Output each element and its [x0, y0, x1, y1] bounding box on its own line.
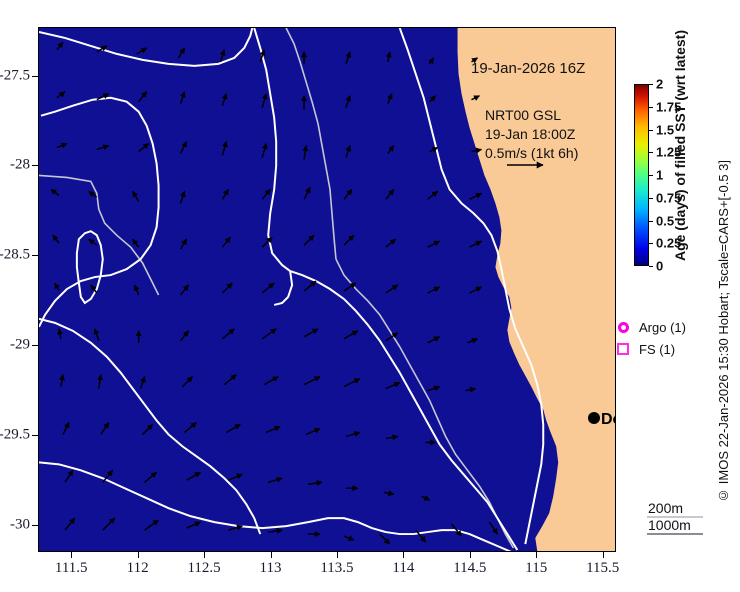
depth-key-1000m: 1000m	[648, 517, 691, 534]
dongara-city-label: Dongara	[601, 411, 616, 429]
vector-source-label: NRT00 GSL	[485, 106, 578, 125]
y-tick-mark	[32, 525, 38, 526]
x-tick-label-5: 114	[392, 560, 414, 577]
depth-label-200m: 200m	[648, 500, 683, 516]
vector-key-block: NRT00 GSL 19-Jan 18:00Z 0.5m/s (1kt 6h)	[485, 106, 578, 163]
colorbar-tick-mark	[649, 84, 653, 85]
vector-scale-arrow-icon	[505, 159, 551, 171]
x-tick-label-3: 113	[260, 560, 282, 577]
depth-line-1000m-icon	[647, 533, 703, 535]
y-tick-label-4: -29.5	[0, 427, 30, 444]
x-tick-mark	[536, 552, 537, 558]
fs-square-icon	[614, 343, 632, 355]
date-stamp-label: 19-Jan-2026 16Z	[471, 60, 585, 77]
credit-label: © IMOS 22-Jan-2026 15:30 Hobart; Tscale=…	[716, 160, 731, 503]
colorbar-title-text: Age (days) of filled SST (wrt latest)	[672, 30, 688, 261]
x-tick-mark	[470, 552, 471, 558]
x-tick-label-4: 113.5	[320, 560, 353, 577]
colorbar-tick-mark	[649, 198, 653, 199]
colorbar-tick-label-8: 0	[656, 259, 663, 274]
x-tick-mark	[204, 552, 205, 558]
y-tick-mark	[32, 255, 38, 256]
x-tick-label-0: 111.5	[55, 560, 88, 577]
x-tick-label-8: 115.5	[586, 560, 619, 577]
map-plot-area[interactable]: 19-Jan-2026 16Z NRT00 GSL 19-Jan 18:00Z …	[38, 27, 616, 552]
depth-label-1000m: 1000m	[648, 517, 691, 533]
legend-label-fs: FS (1)	[639, 342, 675, 357]
legend-item-fs[interactable]: FS (1)	[614, 338, 686, 360]
colorbar-gradient	[634, 84, 649, 266]
colorbar-tick-mark	[649, 175, 653, 176]
y-tick-mark	[32, 345, 38, 346]
colorbar-tick-mark	[649, 243, 653, 244]
x-tick-mark	[71, 552, 72, 558]
y-tick-label-0: -27.5	[0, 67, 30, 84]
colorbar-title: Age (days) of filled SST (wrt latest)	[672, 30, 696, 310]
y-tick-label-2: -28.5	[0, 247, 30, 264]
figure-canvas: 19-Jan-2026 16Z NRT00 GSL 19-Jan 18:00Z …	[0, 0, 740, 592]
vector-time-label: 19-Jan 18:00Z	[485, 125, 578, 144]
x-tick-label-2: 112.5	[187, 560, 220, 577]
dongara-city-dot-icon	[588, 412, 600, 424]
colorbar-tick-mark	[649, 221, 653, 222]
x-tick-label-6: 114.5	[453, 560, 486, 577]
colorbar-tick-label-4: 1	[656, 168, 663, 183]
depth-key-200m: 200m	[648, 500, 691, 517]
bathymetry-depth-key: 200m 1000m	[648, 500, 691, 534]
y-tick-mark	[32, 165, 38, 166]
legend-label-argo: Argo (1)	[639, 320, 686, 335]
x-tick-label-1: 112	[127, 560, 149, 577]
y-tick-label-1: -28	[10, 157, 30, 174]
x-tick-mark	[337, 552, 338, 558]
x-tick-label-7: 115	[525, 560, 547, 577]
colorbar-tick-mark	[649, 130, 653, 131]
y-tick-mark	[32, 76, 38, 77]
y-tick-mark	[32, 435, 38, 436]
credit-text: © IMOS 22-Jan-2026 15:30 Hobart; Tscale=…	[716, 160, 738, 580]
x-tick-mark	[603, 552, 604, 558]
y-tick-label-3: -29	[10, 337, 30, 354]
colorbar-tick-mark	[649, 107, 653, 108]
platform-legend: Argo (1) FS (1)	[614, 316, 686, 360]
x-tick-mark	[138, 552, 139, 558]
colorbar-tick-label-0: 2	[656, 77, 663, 92]
x-tick-mark	[271, 552, 272, 558]
argo-circle-icon	[614, 322, 632, 333]
colorbar-tick-mark	[649, 266, 653, 267]
colorbar[interactable]: 21.751.51.2510.750.50.250	[634, 84, 649, 266]
legend-item-argo[interactable]: Argo (1)	[614, 316, 686, 338]
colorbar-tick-mark	[649, 152, 653, 153]
x-tick-mark	[403, 552, 404, 558]
y-tick-label-5: -30	[10, 517, 30, 534]
